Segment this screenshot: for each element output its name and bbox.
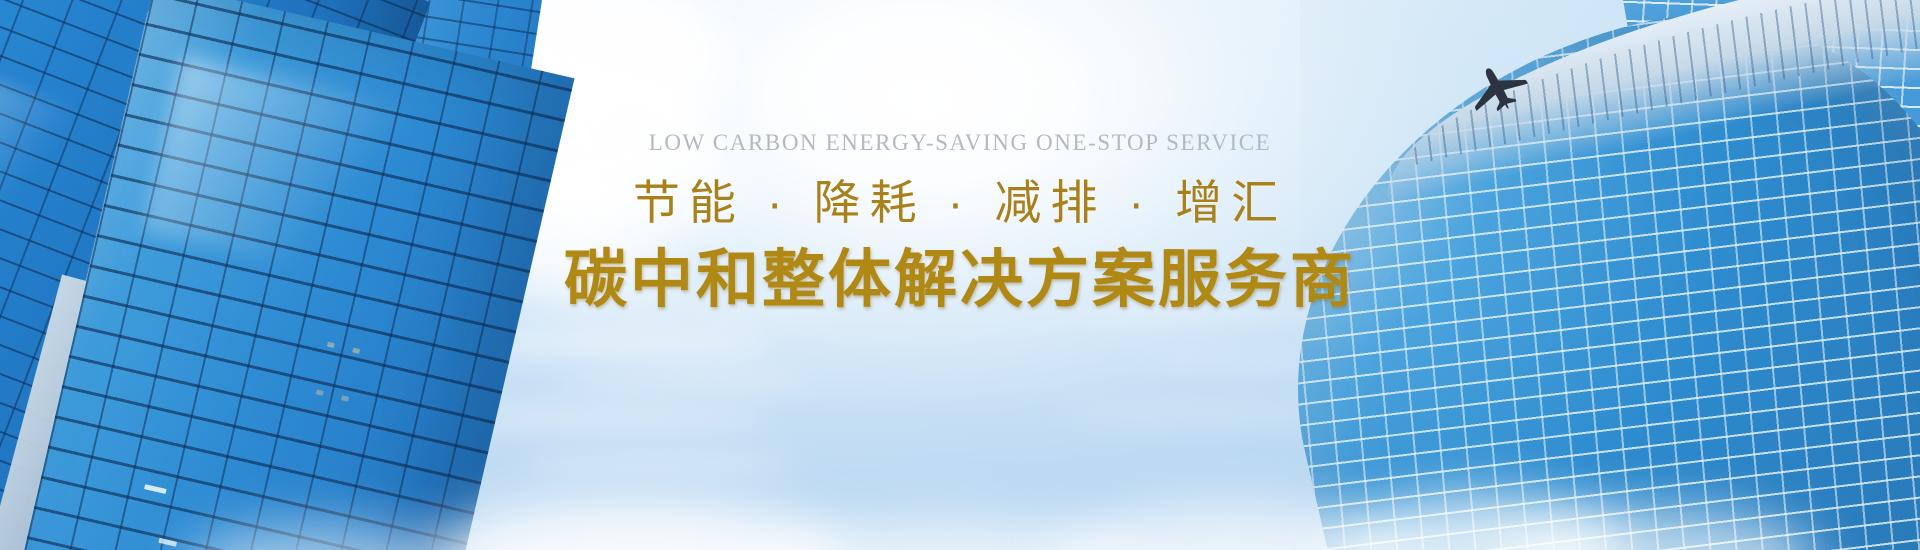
- lit-window: [341, 395, 349, 401]
- lit-window: [144, 484, 167, 494]
- lit-window: [158, 538, 177, 547]
- glass-skyscrapers-right: [1360, 0, 1920, 550]
- lit-window: [327, 341, 335, 347]
- glass-skyscrapers-left: [0, 0, 560, 550]
- cloud-decoration: [620, 300, 840, 316]
- cloud-decoration: [520, 452, 800, 472]
- glass-highlight: [142, 55, 413, 284]
- lit-window: [352, 347, 360, 353]
- hero-banner: LOW CARBON ENERGY-SAVING ONE-STOP SERVIC…: [0, 0, 1920, 550]
- cloud-decoration: [560, 372, 810, 390]
- lit-window: [316, 389, 324, 395]
- airplane-icon: [1470, 62, 1530, 114]
